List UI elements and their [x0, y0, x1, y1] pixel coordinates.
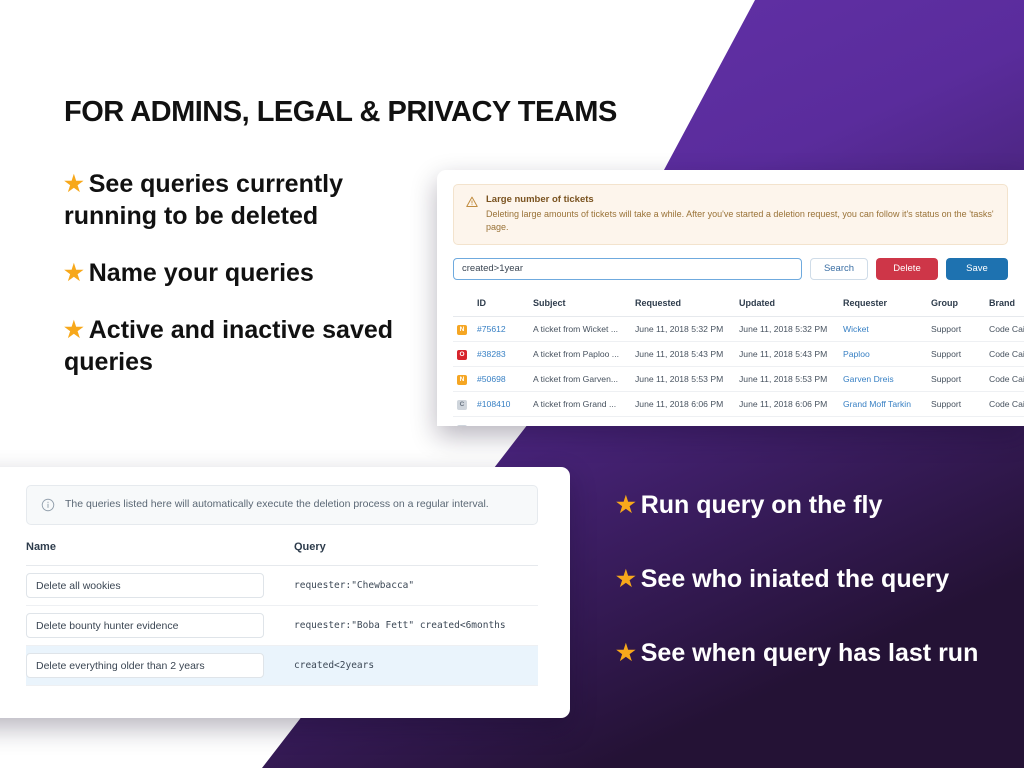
- column-header-group[interactable]: Group: [927, 292, 985, 317]
- star-icon: ★: [616, 639, 636, 667]
- search-button[interactable]: Search: [810, 258, 868, 280]
- ticket-id-link[interactable]: #50698: [477, 374, 506, 384]
- alert-body: Deleting large amounts of tickets will t…: [486, 208, 995, 234]
- column-header-status[interactable]: [453, 292, 473, 317]
- table-header-row: ID Subject Requested Updated Requester G…: [453, 292, 1024, 317]
- table-row[interactable]: created<2years: [26, 646, 538, 686]
- list-item-label: See when query has last run: [641, 639, 979, 667]
- ticket-brand-cell: Code Cairn SANDBOX: [985, 366, 1024, 391]
- ticket-results-table: ID Subject Requested Updated Requester G…: [453, 292, 1024, 426]
- ticket-requester-cell: Garven Dreis: [839, 366, 927, 391]
- requester-link[interactable]: Grand Moff Tarkin: [843, 399, 911, 409]
- requester-link[interactable]: Paploo: [843, 349, 870, 359]
- status-badge: O: [457, 350, 467, 360]
- status-badge: C: [457, 425, 467, 426]
- ticket-requester-cell: Wicket: [839, 316, 927, 341]
- ticket-id-cell: #38283: [473, 341, 529, 366]
- ticket-group-cell: Support: [927, 341, 985, 366]
- ticket-id-cell: #17900: [473, 416, 529, 426]
- ticket-status-cell: N: [453, 316, 473, 341]
- search-toolbar: Search Delete Save: [453, 258, 1008, 280]
- query-name-cell: [26, 606, 294, 646]
- table-header-row: Name Query: [26, 537, 538, 566]
- ticket-requester-cell: Paploo: [839, 341, 927, 366]
- ticket-updated-cell: June 11, 2018 5:32 PM: [735, 316, 839, 341]
- feature-list-right: ★Run query on the fly ★See who iniated t…: [616, 489, 1011, 711]
- ticket-group-cell: Support: [927, 366, 985, 391]
- list-item-label: See who iniated the query: [641, 565, 949, 593]
- query-expression: requester:"Chewbacca": [294, 566, 538, 606]
- requester-link[interactable]: C-3PO: [843, 424, 869, 426]
- list-item: ★See queries currently running to be del…: [64, 168, 404, 232]
- ticket-requested-cell: June 11, 2018 5:32 PM: [631, 316, 735, 341]
- list-item: ★See when query has last run: [616, 637, 1011, 669]
- list-item-label: See queries currently running to be dele…: [64, 170, 343, 230]
- info-banner-text: The queries listed here will automatical…: [65, 498, 489, 512]
- query-name-input[interactable]: [26, 653, 264, 678]
- query-expression: requester:"Boba Fett" created<6months: [294, 606, 538, 646]
- query-expression: created<2years: [294, 646, 538, 686]
- query-name-cell: [26, 566, 294, 606]
- column-header-requester[interactable]: Requester: [839, 292, 927, 317]
- ticket-id-cell: #75612: [473, 316, 529, 341]
- query-name-input[interactable]: [26, 573, 264, 598]
- page-headline: FOR ADMINS, LEGAL & PRIVACY TEAMS: [64, 96, 617, 129]
- ticket-subject-cell: A ticket from Garven...: [529, 366, 631, 391]
- ticket-subject-cell: A ticket from C-3PO ...: [529, 416, 631, 426]
- ticket-brand-cell: Code Cairn SANDBOX: [985, 416, 1024, 426]
- delete-button[interactable]: Delete: [876, 258, 938, 280]
- ticket-id-cell: #108410: [473, 391, 529, 416]
- ticket-group-cell: Support: [927, 316, 985, 341]
- auto-execute-info-banner: The queries listed here will automatical…: [26, 485, 538, 525]
- table-row[interactable]: requester:"Chewbacca": [26, 566, 538, 606]
- list-item-label: Name your queries: [89, 259, 314, 287]
- ticket-subject-cell: A ticket from Paploo ...: [529, 341, 631, 366]
- ticket-requested-cell: June 11, 2018 5:53 PM: [631, 366, 735, 391]
- ticket-subject-cell: A ticket from Wicket ...: [529, 316, 631, 341]
- star-icon: ★: [64, 170, 84, 198]
- ticket-subject-cell: A ticket from Grand ...: [529, 391, 631, 416]
- ticket-status-cell: O: [453, 341, 473, 366]
- ticket-updated-cell: June 11, 2018 6:06 PM: [735, 391, 839, 416]
- table-row[interactable]: C#108410A ticket from Grand ...June 11, …: [453, 391, 1024, 416]
- large-ticket-warning-banner: Large number of tickets Deleting large a…: [453, 184, 1008, 245]
- ticket-id-cell: #50698: [473, 366, 529, 391]
- status-badge: N: [457, 375, 467, 385]
- list-item: ★Name your queries: [64, 257, 404, 289]
- feature-list-left: ★See queries currently running to be del…: [64, 168, 404, 403]
- list-item-label: Active and inactive saved queries: [64, 316, 393, 376]
- ticket-id-link[interactable]: #38283: [477, 349, 506, 359]
- ticket-updated-cell: June 11, 2018 5:53 PM: [735, 366, 839, 391]
- search-input[interactable]: [453, 258, 802, 280]
- ticket-group-cell: Support: [927, 416, 985, 426]
- ticket-group-cell: Support: [927, 391, 985, 416]
- table-row[interactable]: C#17900A ticket from C-3PO ...June 11, 2…: [453, 416, 1024, 426]
- ticket-updated-cell: June 11, 2018 5:43 PM: [735, 341, 839, 366]
- list-item-label: Run query on the fly: [641, 491, 883, 519]
- star-icon: ★: [616, 491, 636, 519]
- star-icon: ★: [64, 316, 84, 344]
- list-item: ★Active and inactive saved queries: [64, 314, 404, 378]
- ticket-requested-cell: June 11, 2018 6:08 PM: [631, 416, 735, 426]
- table-row[interactable]: requester:"Boba Fett" created<6months: [26, 606, 538, 646]
- ticket-id-link[interactable]: #75612: [477, 324, 506, 334]
- list-item: ★Run query on the fly: [616, 489, 1011, 521]
- info-circle-icon: [41, 498, 55, 512]
- ticket-requested-cell: June 11, 2018 6:06 PM: [631, 391, 735, 416]
- table-row[interactable]: O#38283A ticket from Paploo ...June 11, …: [453, 341, 1024, 366]
- ticket-id-link[interactable]: #108410: [477, 399, 510, 409]
- ticket-brand-cell: Code Cairn SANDBOX: [985, 341, 1024, 366]
- star-icon: ★: [616, 565, 636, 593]
- saved-queries-panel: The queries listed here will automatical…: [0, 467, 570, 718]
- saved-queries-table: Name Query requester:"Chewbacca"requeste…: [26, 537, 538, 686]
- query-name-input[interactable]: [26, 613, 264, 638]
- ticket-id-link[interactable]: #17900: [477, 424, 506, 426]
- column-header-brand[interactable]: Brand: [985, 292, 1024, 317]
- ticket-status-cell: C: [453, 416, 473, 426]
- column-header-updated[interactable]: Updated: [735, 292, 839, 317]
- requester-link[interactable]: Wicket: [843, 324, 869, 334]
- warning-triangle-icon: [466, 196, 478, 208]
- column-header-name[interactable]: Name: [26, 537, 294, 566]
- column-header-requested[interactable]: Requested: [631, 292, 735, 317]
- star-icon: ★: [64, 259, 84, 287]
- save-button[interactable]: Save: [946, 258, 1008, 280]
- ticket-requester-cell: C-3PO: [839, 416, 927, 426]
- requester-link[interactable]: Garven Dreis: [843, 374, 894, 384]
- ticket-status-cell: N: [453, 366, 473, 391]
- ticket-status-cell: C: [453, 391, 473, 416]
- ticket-requester-cell: Grand Moff Tarkin: [839, 391, 927, 416]
- column-header-id[interactable]: ID: [473, 292, 529, 317]
- ticket-brand-cell: Code Cairn SANDBOX: [985, 391, 1024, 416]
- query-name-cell: [26, 646, 294, 686]
- ticket-requested-cell: June 11, 2018 5:43 PM: [631, 341, 735, 366]
- alert-title: Large number of tickets: [486, 194, 995, 207]
- ticket-brand-cell: Code Cairn SANDBOX: [985, 316, 1024, 341]
- status-badge: C: [457, 400, 467, 410]
- table-row[interactable]: N#50698A ticket from Garven...June 11, 2…: [453, 366, 1024, 391]
- ticket-updated-cell: May 13, 2019 5:02 AM: [735, 416, 839, 426]
- status-badge: N: [457, 325, 467, 335]
- ticket-search-panel: Large number of tickets Deleting large a…: [437, 170, 1024, 426]
- column-header-query[interactable]: Query: [294, 537, 538, 566]
- table-row[interactable]: N#75612A ticket from Wicket ...June 11, …: [453, 316, 1024, 341]
- column-header-subject[interactable]: Subject: [529, 292, 631, 317]
- list-item: ★See who iniated the query: [616, 563, 1011, 595]
